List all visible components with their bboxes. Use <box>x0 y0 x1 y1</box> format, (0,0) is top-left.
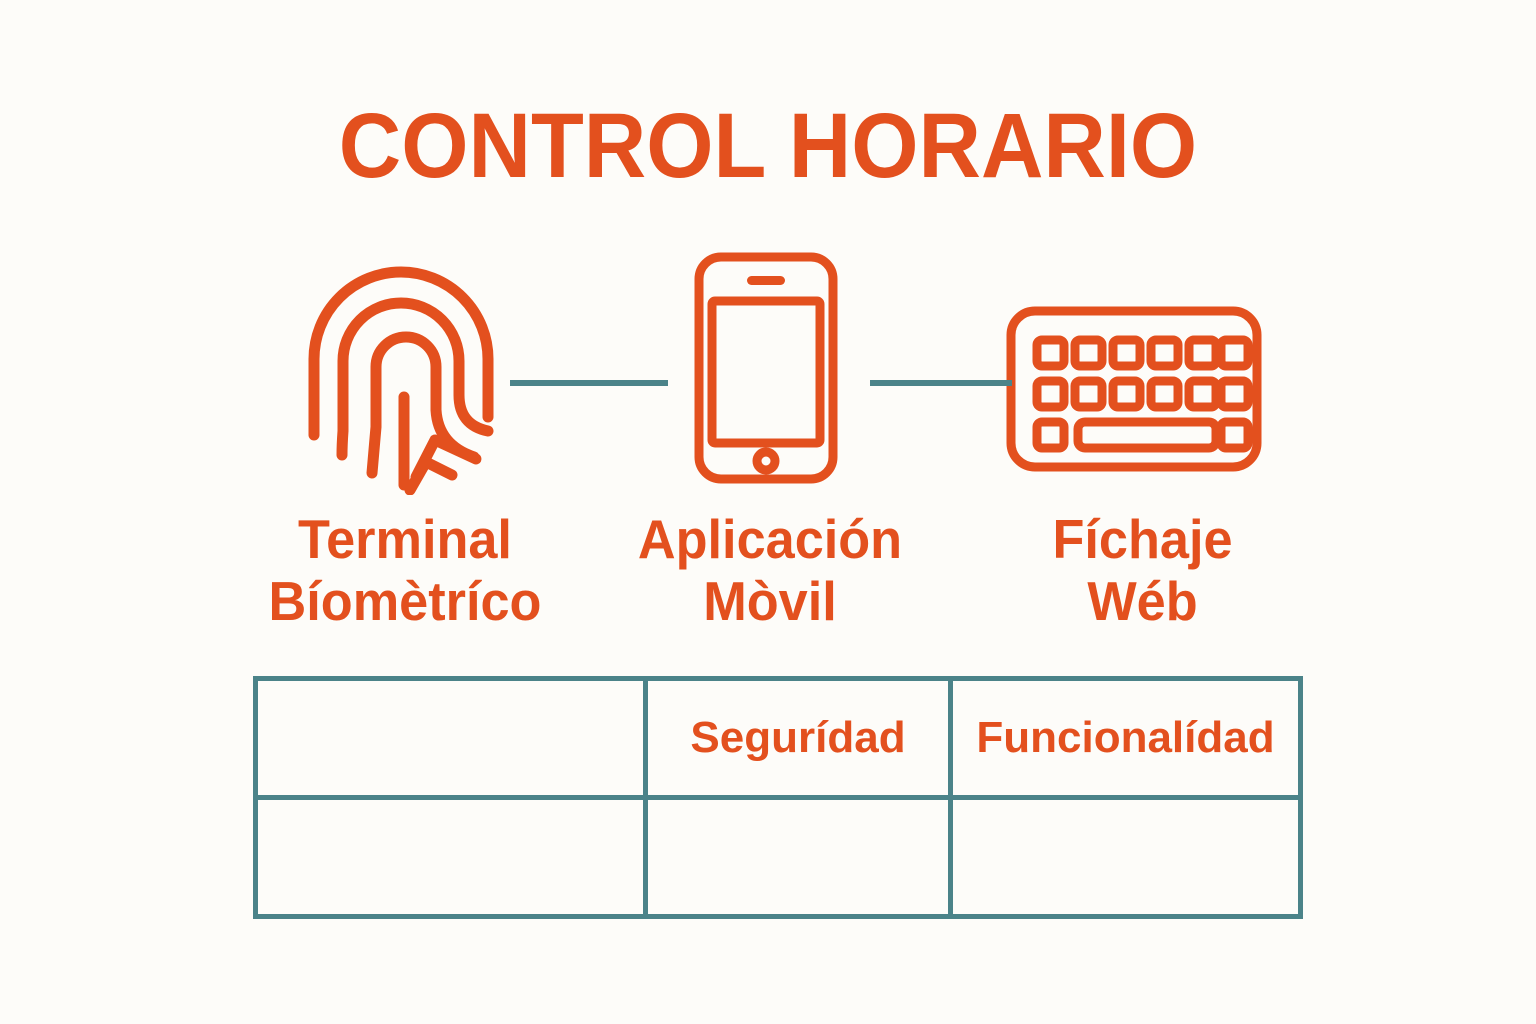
table-row: Segurídad Funcionalídad <box>256 679 1301 798</box>
channel-label-line2: Mòvil <box>632 570 908 632</box>
infographic-canvas: CONTROL HORARIO <box>0 0 1536 1024</box>
channel-label-line1: Aplicación <box>632 508 908 570</box>
table-cell-r0c2: Funcionalídad <box>951 679 1301 798</box>
table-cell-r1c2 <box>951 798 1301 917</box>
channel-label-mobile: Aplicación Mòvil <box>632 508 908 632</box>
table-row <box>256 798 1301 917</box>
channel-label-line1: Fíchaje <box>1021 508 1263 570</box>
keyboard-icon <box>1005 245 1263 495</box>
channel-label-line2: Wéb <box>1021 570 1263 632</box>
channel-label-line2: Bíomètríco <box>248 570 562 632</box>
channel-icon-row <box>0 245 1536 495</box>
channel-label-line1: Terminal <box>248 508 562 570</box>
table-cell-r1c0 <box>256 798 646 917</box>
connector-phone-to-keyboard <box>870 380 1012 386</box>
table-cell-r0c1: Segurídad <box>646 679 951 798</box>
smartphone-icon <box>690 245 842 495</box>
fingerprint-icon <box>296 245 506 495</box>
channel-label-web: Fíchaje Wéb <box>1021 508 1263 632</box>
table-cell-r1c1 <box>646 798 951 917</box>
connector-fingerprint-to-phone <box>510 380 668 386</box>
page-title: CONTROL HORARIO <box>46 96 1490 196</box>
channel-label-row: Terminal Bíomètríco Aplicación Mòvil Fíc… <box>0 508 1536 648</box>
comparison-table: Segurídad Funcionalídad <box>253 676 1303 919</box>
channel-label-biometric: Terminal Bíomètríco <box>248 508 562 632</box>
table-cell-r0c0 <box>256 679 646 798</box>
